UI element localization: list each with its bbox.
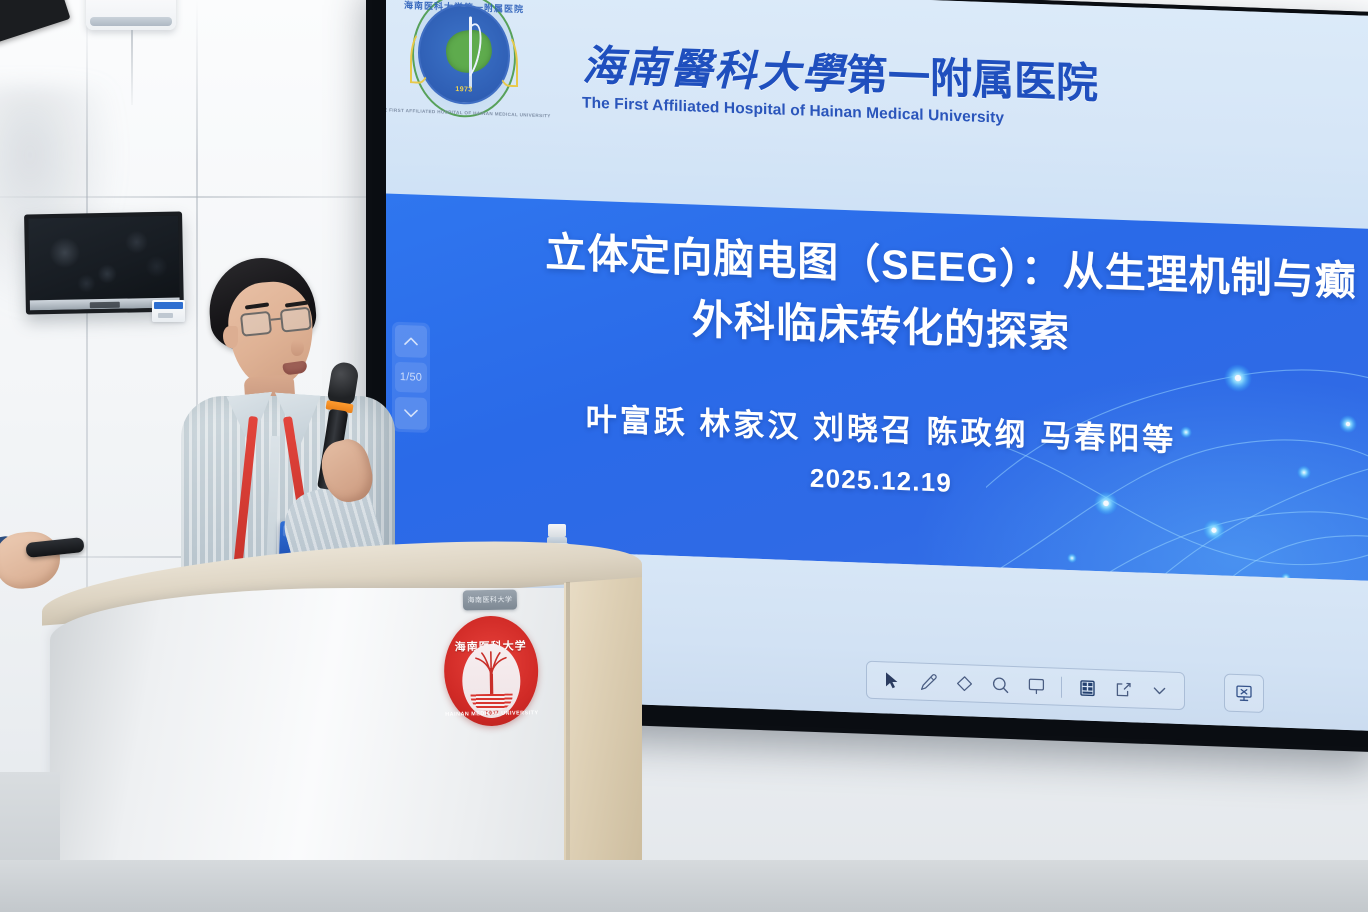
share-icon[interactable] (1106, 673, 1140, 704)
device-cable (131, 30, 133, 105)
wall-mounted-device (86, 0, 176, 30)
university-logo-icon: 海南医科大学 海南医科大学 (439, 599, 541, 725)
hospital-emblem-icon: 海南医科大学第一附属医院 1973 THE FIRST AFFILIATED H… (402, 0, 526, 123)
podium-plaque: 海南医科大学 (463, 590, 517, 611)
presenter-view-button[interactable] (1224, 674, 1264, 713)
logo-oval: 海南医科大学 1947 (443, 615, 539, 727)
spotlight-icon[interactable] (1019, 670, 1053, 701)
wall-display-logo (90, 302, 120, 309)
open-book-icon (471, 694, 513, 711)
presentation-toolbar[interactable] (866, 661, 1185, 710)
magnifier-icon[interactable] (983, 669, 1017, 700)
grid-icon[interactable] (1070, 672, 1104, 703)
presenter-mouth (282, 360, 307, 375)
pen-icon[interactable] (911, 666, 945, 697)
screenshot-stage: 海南医科大学第一附属医院 1973 THE FIRST AFFILIATED H… (0, 0, 1368, 912)
podium-plaque-text: 海南医科大学 (463, 590, 517, 611)
toolbar-divider (1061, 676, 1062, 697)
podium: 海南医科大学 海南医科大学 (42, 548, 642, 912)
logo-inner-circle: 1947 (462, 643, 521, 718)
slide-content-area: 立体定向脑电图（SEEG）：从生理机制与癫 外科临床转化的探索 叶富跃 林家汉 … (386, 193, 1368, 581)
slide-title: 立体定向脑电图（SEEG）：从生理机制与癫 外科临床转化的探索 (386, 215, 1368, 375)
projector-icon[interactable] (1227, 678, 1261, 709)
emblem-year: 1973 (455, 86, 472, 94)
hospital-title-block: 海南醫科大學第一附属医院 The First Affiliated Hospit… (582, 31, 1102, 131)
slide-header-band: 海南医科大学第一附属医院 1973 THE FIRST AFFILIATED H… (386, 0, 1368, 229)
presenter-ear (223, 326, 238, 348)
cursor-icon[interactable] (875, 665, 909, 696)
floor (0, 860, 1368, 912)
chevron-down-icon[interactable] (1142, 675, 1176, 706)
eraser-icon[interactable] (947, 668, 981, 699)
wall-display-screen (28, 216, 180, 311)
logo-en-text: HAINAN MEDICAL UNIVERSITY (445, 710, 539, 718)
